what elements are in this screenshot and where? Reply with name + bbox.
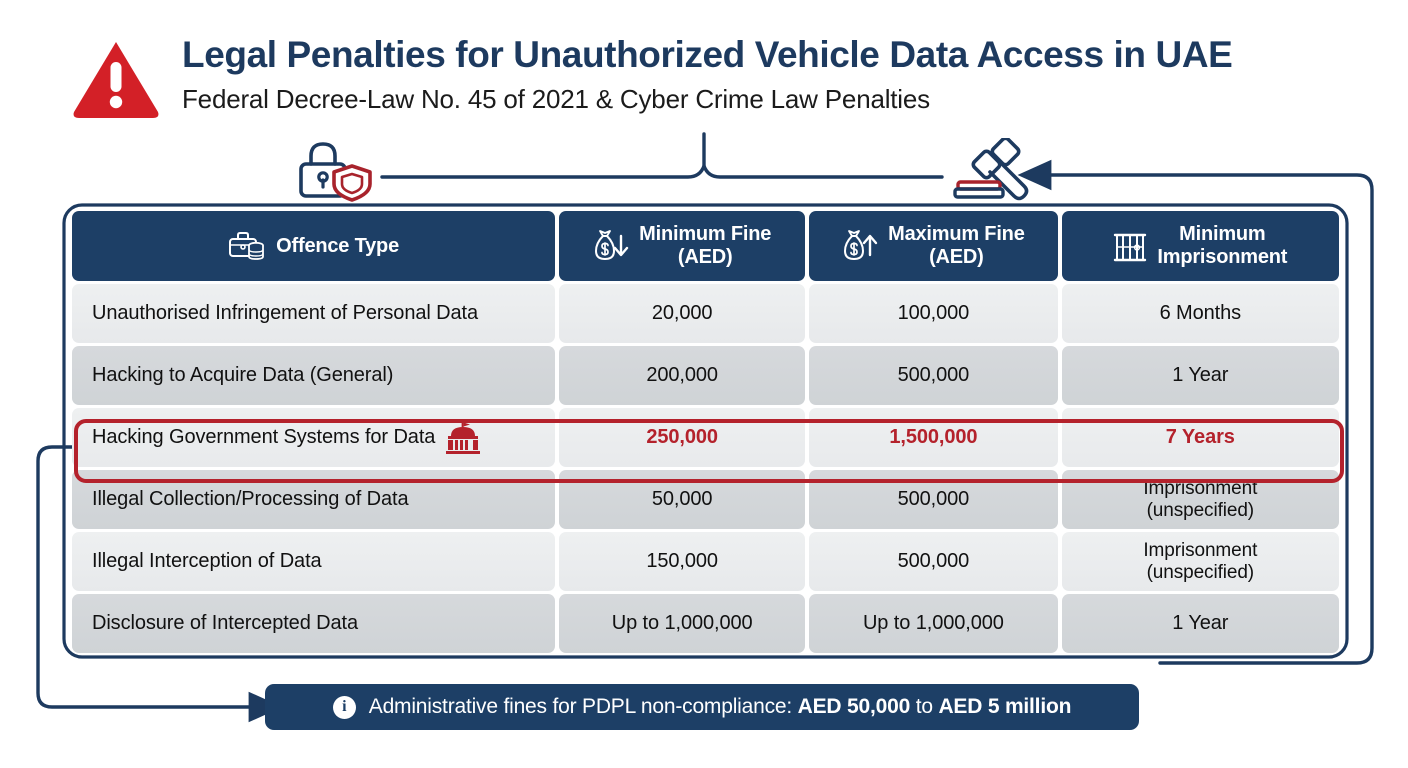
cell-max-fine: 1,500,000 <box>809 408 1057 467</box>
cell-min-fine: 250,000 <box>559 408 805 467</box>
page-subtitle: Federal Decree-Law No. 45 of 2021 & Cybe… <box>182 84 1232 115</box>
column-header-minimum-imprisonment[interactable]: Minimum Imprisonment <box>1062 211 1339 281</box>
cell-min-fine: 150,000 <box>559 532 805 591</box>
cell-offence: Unauthorised Infringement of Personal Da… <box>72 284 555 343</box>
table-header-row: Offence Type <box>72 211 1339 281</box>
column-header-line2: Imprisonment <box>1157 246 1287 268</box>
cell-max-fine: 500,000 <box>809 470 1057 529</box>
table-row[interactable]: Illegal Interception of Data 150,000 500… <box>72 532 1339 591</box>
info-icon: i <box>333 696 356 719</box>
cell-imprisonment-line1: Imprisonment <box>1143 540 1257 561</box>
table-body: Unauthorised Infringement of Personal Da… <box>72 284 1339 653</box>
column-header-line1: Minimum <box>1179 223 1265 245</box>
page-title: Legal Penalties for Unauthorized Vehicle… <box>182 34 1232 77</box>
table-row[interactable]: Disclosure of Intercepted Data Up to 1,0… <box>72 594 1339 653</box>
column-header-minimum-fine[interactable]: Minimum Fine (AED) <box>559 211 805 281</box>
column-header-line1: Minimum Fine <box>639 223 771 245</box>
prison-bars-icon <box>1113 228 1147 264</box>
cell-imprisonment-line2: (unspecified) <box>1147 562 1254 583</box>
money-bag-up-icon <box>842 228 878 264</box>
page-header: Legal Penalties for Unauthorized Vehicle… <box>72 34 1232 120</box>
cell-min-fine: 20,000 <box>559 284 805 343</box>
column-header-label: Minimum Imprisonment <box>1157 223 1287 269</box>
table-header: Offence Type <box>72 211 1339 281</box>
column-header-label: Maximum Fine (AED) <box>888 223 1025 269</box>
cell-offence-label: Hacking Government Systems for Data <box>92 426 435 448</box>
money-bag-down-icon <box>593 228 629 264</box>
table-row-highlighted[interactable]: Hacking Government Systems for Data <box>72 408 1339 467</box>
footer-text-between: to <box>910 695 938 718</box>
footer-text-before: Administrative fines for PDPL non-compli… <box>369 695 798 718</box>
gavel-icon <box>952 138 1044 204</box>
cell-min-fine: 50,000 <box>559 470 805 529</box>
lock-shield-icon <box>296 140 376 202</box>
penalties-table: Offence Type <box>68 208 1343 656</box>
column-header-line2: (AED) <box>678 246 733 268</box>
footer-text: Administrative fines for PDPL non-compli… <box>369 695 1071 719</box>
footer-banner[interactable]: i Administrative fines for PDPL non-comp… <box>265 684 1139 730</box>
footer-amount-max: AED 5 million <box>938 695 1071 718</box>
column-header-label: Offence Type <box>276 235 399 258</box>
cell-imprisonment: 7 Years <box>1062 408 1339 467</box>
briefcase-database-icon <box>228 230 266 262</box>
cell-offence: Hacking to Acquire Data (General) <box>72 346 555 405</box>
cell-min-fine: Up to 1,000,000 <box>559 594 805 653</box>
footer-amount-min: AED 50,000 <box>798 695 910 718</box>
cell-offence: Disclosure of Intercepted Data <box>72 594 555 653</box>
column-header-offence-type[interactable]: Offence Type <box>72 211 555 281</box>
cell-imprisonment-line2: (unspecified) <box>1147 500 1254 521</box>
cell-imprisonment: Imprisonment (unspecified) <box>1062 532 1339 591</box>
cell-offence: Illegal Collection/Processing of Data <box>72 470 555 529</box>
government-building-icon <box>445 422 481 454</box>
cell-max-fine: 500,000 <box>809 532 1057 591</box>
warning-triangle-icon <box>72 38 160 120</box>
cell-max-fine: 500,000 <box>809 346 1057 405</box>
table-row[interactable]: Illegal Collection/Processing of Data 50… <box>72 470 1339 529</box>
cell-offence: Illegal Interception of Data <box>72 532 555 591</box>
cell-max-fine: Up to 1,000,000 <box>809 594 1057 653</box>
table-row[interactable]: Hacking to Acquire Data (General) 200,00… <box>72 346 1339 405</box>
column-header-label: Minimum Fine (AED) <box>639 223 771 269</box>
cell-max-fine: 100,000 <box>809 284 1057 343</box>
info-glyph: i <box>342 698 346 716</box>
penalties-table-container: Offence Type <box>68 208 1343 656</box>
cell-offence: Hacking Government Systems for Data <box>72 408 555 467</box>
cell-imprisonment-line1: Imprisonment <box>1143 478 1257 499</box>
column-header-maximum-fine[interactable]: Maximum Fine (AED) <box>809 211 1057 281</box>
table-row[interactable]: Unauthorised Infringement of Personal Da… <box>72 284 1339 343</box>
cell-imprisonment: 1 Year <box>1062 594 1339 653</box>
column-header-line2: (AED) <box>929 246 984 268</box>
cell-imprisonment: 1 Year <box>1062 346 1339 405</box>
cell-imprisonment: Imprisonment (unspecified) <box>1062 470 1339 529</box>
column-header-line1: Maximum Fine <box>888 223 1025 245</box>
cell-imprisonment: 6 Months <box>1062 284 1339 343</box>
infographic-canvas: Legal Penalties for Unauthorized Vehicle… <box>0 0 1408 768</box>
cell-min-fine: 200,000 <box>559 346 805 405</box>
